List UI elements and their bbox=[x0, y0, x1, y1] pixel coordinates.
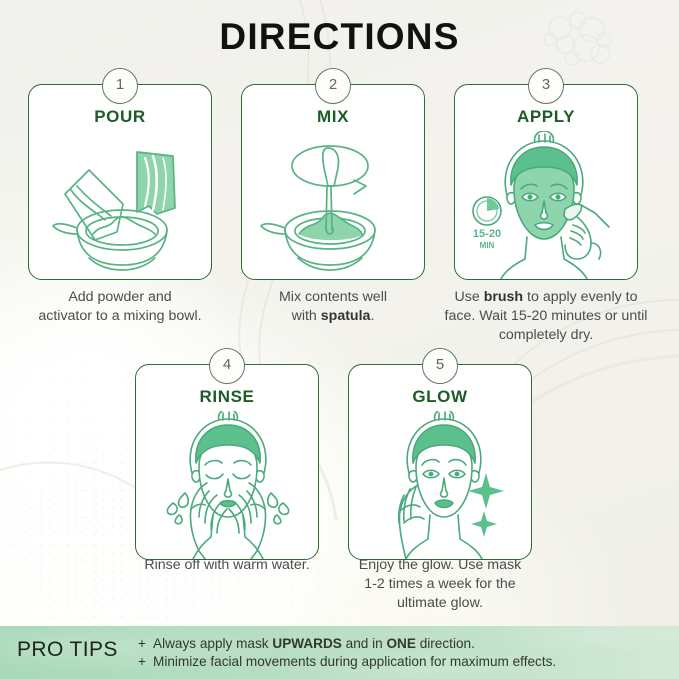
pro-tip-emphasis: ONE bbox=[386, 636, 415, 651]
spatula-stir-bowl-icon bbox=[258, 134, 408, 276]
step-title-glow: GLOW bbox=[349, 387, 531, 407]
caption-emphasis: spatula bbox=[321, 308, 371, 324]
caption-text: with bbox=[292, 308, 321, 324]
step-card-pour: 1 POUR bbox=[28, 84, 212, 280]
step-title-apply: APPLY bbox=[455, 107, 637, 127]
caption-line: 1-2 times a week for the bbox=[334, 575, 546, 594]
step-title-pour: POUR bbox=[29, 107, 211, 127]
pro-tip-segment: Always apply mask bbox=[153, 636, 272, 651]
step-number-badge: 5 bbox=[422, 348, 458, 384]
timer-unit-label: MIN bbox=[480, 241, 495, 250]
step-number-badge: 1 bbox=[102, 68, 138, 104]
caption-line: Rinse off with warm water. bbox=[121, 556, 333, 575]
page-title: DIRECTIONS bbox=[0, 16, 679, 58]
step-caption-apply: Use brush to apply evenly to face. Wait … bbox=[440, 288, 652, 345]
caption-line: ultimate glow. bbox=[334, 594, 546, 613]
step-caption-pour: Add powder and activator to a mixing bow… bbox=[14, 288, 226, 326]
step-number-badge: 4 bbox=[209, 348, 245, 384]
glowing-face-sparkles-icon bbox=[360, 411, 520, 559]
pro-tip-emphasis: UPWARDS bbox=[272, 636, 341, 651]
pro-tip-segment: and in bbox=[342, 636, 387, 651]
pro-tips-list: + Always apply mask UPWARDS and in ONE d… bbox=[138, 635, 671, 671]
step-number-badge: 3 bbox=[528, 68, 564, 104]
step-caption-glow: Enjoy the glow. Use mask 1-2 times a wee… bbox=[334, 556, 546, 613]
step-number-badge: 2 bbox=[315, 68, 351, 104]
step-title-rinse: RINSE bbox=[136, 387, 318, 407]
caption-line: Add powder and bbox=[14, 288, 226, 307]
face-mask-brush-apply-icon: 15-20 MIN bbox=[461, 131, 631, 279]
powder-sachet-pour-into-bowl-icon bbox=[45, 134, 195, 276]
caption-text: Use bbox=[455, 289, 484, 305]
plus-icon: + bbox=[138, 635, 153, 653]
illustration-glow bbox=[349, 411, 531, 559]
pro-tips-label: PRO TIPS bbox=[17, 638, 118, 662]
caption-line: Mix contents well bbox=[227, 288, 439, 307]
step-card-glow: 5 GLOW bbox=[348, 364, 532, 560]
step-caption-mix: Mix contents well with spatula. bbox=[227, 288, 439, 326]
pro-tip-item: + Always apply mask UPWARDS and in ONE d… bbox=[138, 635, 671, 653]
face-rinse-water-splash-icon bbox=[147, 411, 307, 559]
caption-text: . bbox=[370, 308, 374, 324]
pro-tip-segment: direction. bbox=[416, 636, 475, 651]
illustration-apply: 15-20 MIN bbox=[455, 131, 637, 279]
pro-tip-text: Always apply mask UPWARDS and in ONE dir… bbox=[153, 635, 475, 653]
pro-tip-segment: Minimize facial movements during applica… bbox=[153, 654, 556, 669]
caption-line: Enjoy the glow. Use mask bbox=[334, 556, 546, 575]
illustration-rinse bbox=[136, 411, 318, 559]
caption-line: activator to a mixing bowl. bbox=[14, 307, 226, 326]
illustration-mix bbox=[242, 131, 424, 279]
caption-line: with spatula. bbox=[227, 307, 439, 326]
pro-tip-item: + Minimize facial movements during appli… bbox=[138, 653, 671, 671]
infographic-page: DIRECTIONS 1 POUR bbox=[0, 0, 679, 679]
step-card-mix: 2 MIX bbox=[241, 84, 425, 280]
illustration-pour bbox=[29, 131, 211, 279]
pro-tips-footer: PRO TIPS + Always apply mask UPWARDS and… bbox=[0, 626, 679, 679]
pro-tip-text: Minimize facial movements during applica… bbox=[153, 653, 556, 671]
caption-emphasis: brush bbox=[484, 289, 523, 305]
step-title-mix: MIX bbox=[242, 107, 424, 127]
timer-value-label: 15-20 bbox=[473, 228, 501, 240]
step-card-rinse: 4 RINSE bbox=[135, 364, 319, 560]
plus-icon: + bbox=[138, 653, 153, 671]
step-caption-rinse: Rinse off with warm water. bbox=[121, 556, 333, 575]
step-card-apply: 3 APPLY bbox=[454, 84, 638, 280]
